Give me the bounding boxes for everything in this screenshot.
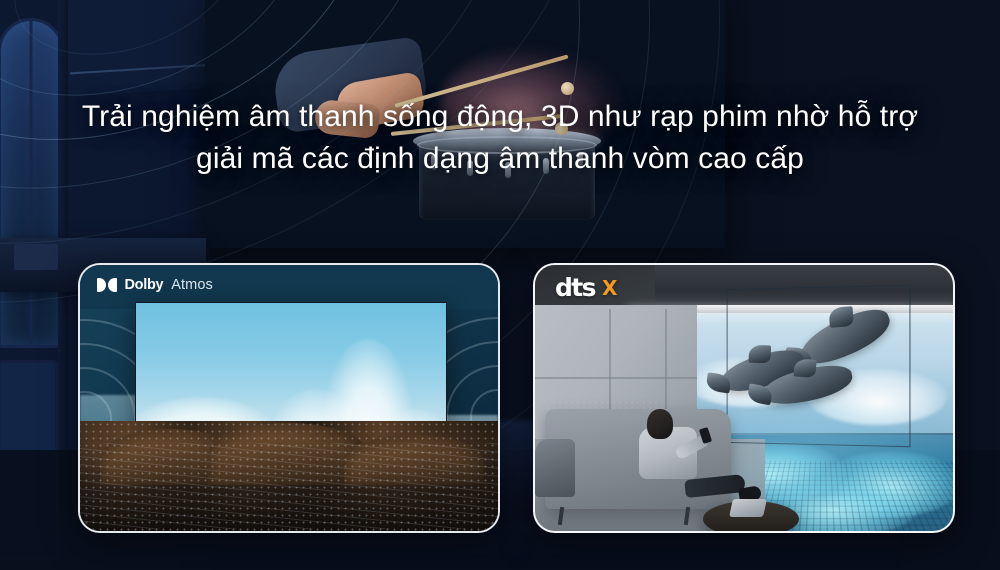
dts-x-logo: dts X <box>555 273 617 302</box>
wall-seam <box>535 377 697 379</box>
dolby-atmos-card[interactable]: Dolby Atmos <box>78 263 500 533</box>
viewer-head <box>647 409 673 439</box>
headline-line-2: giải mã các định dạng âm thanh vòm cao c… <box>0 138 1000 180</box>
dolby-double-d-icon <box>97 278 117 292</box>
table-object <box>729 499 767 517</box>
dolby-product-text: Atmos <box>171 277 213 293</box>
speaker-box <box>14 244 58 270</box>
dts-x-card[interactable]: dts X <box>533 263 955 533</box>
sofa-armrest <box>535 439 575 497</box>
dts-brand-text: dts <box>555 273 595 302</box>
drumstick-tip <box>561 82 574 95</box>
headline: Trải nghiệm âm thanh sống động, 3D như r… <box>0 96 1000 180</box>
dolby-brand-text: Dolby <box>125 277 164 293</box>
dts-x-mark-text: X <box>602 276 617 300</box>
dolby-atmos-logo: Dolby Atmos <box>97 277 213 293</box>
rock-dot-matrix <box>78 421 500 533</box>
headline-line-1: Trải nghiệm âm thanh sống động, 3D như r… <box>0 96 1000 138</box>
dolby-rocks <box>78 421 500 533</box>
arched-window <box>0 18 64 348</box>
banner-stage: Trải nghiệm âm thanh sống động, 3D như r… <box>0 0 1000 570</box>
